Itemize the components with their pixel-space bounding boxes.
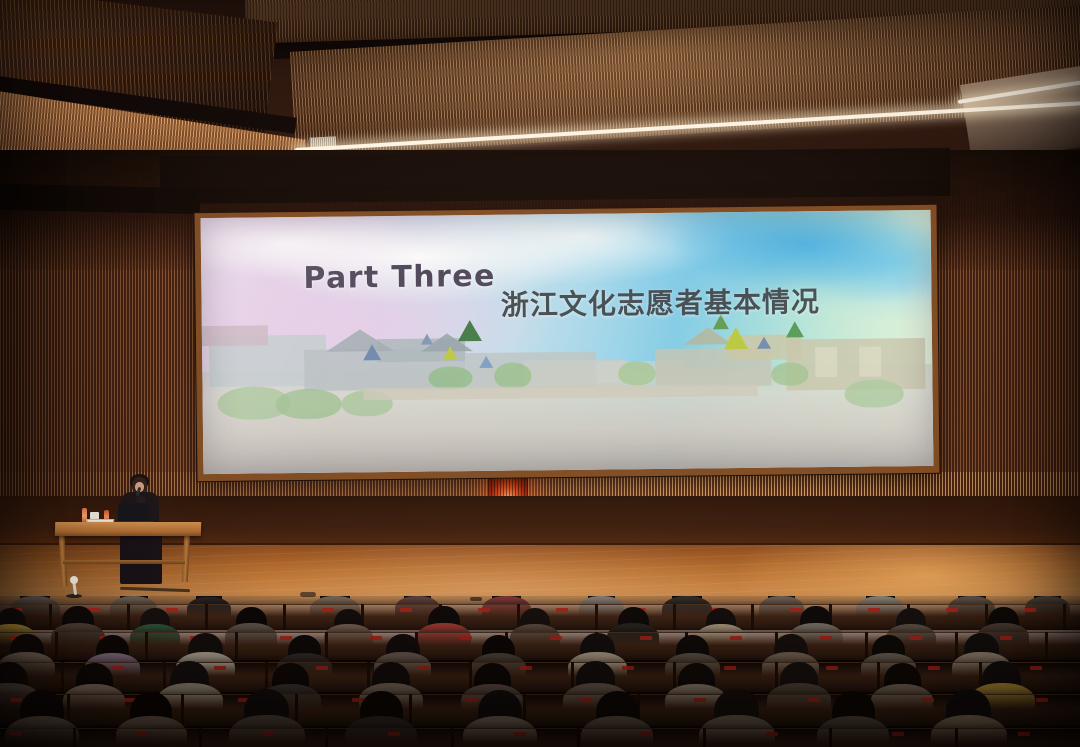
seat-number-marker: [466, 698, 478, 702]
seat-number-marker: [214, 666, 226, 670]
slide-building-right-window-strip-2: [859, 346, 881, 377]
seat-number-marker: [724, 666, 736, 670]
seat-number-marker: [166, 608, 178, 612]
seat-divider: [325, 728, 328, 747]
mic-stand-head: [70, 576, 78, 584]
slide-roof-1: [326, 329, 394, 352]
slide-tree-4: [772, 362, 809, 385]
seat-divider: [955, 728, 958, 747]
seat-number-marker: [136, 732, 148, 736]
slide-shrub-2: [276, 388, 342, 419]
seat-divider: [283, 604, 286, 630]
slide-triangle-2: [421, 333, 433, 344]
seat-number-marker: [418, 666, 430, 670]
seat-number-marker: [580, 698, 592, 702]
seat-number-marker: [910, 636, 922, 640]
slide-title: Part Three: [303, 258, 496, 295]
floor-microphone-stand: [66, 576, 82, 598]
seat-divider: [61, 662, 64, 692]
seat-number-marker: [316, 666, 328, 670]
presenter-table: [55, 522, 201, 536]
slide-shrub-4: [845, 379, 904, 408]
seat-divider: [595, 604, 598, 630]
seat-divider: [127, 604, 130, 630]
seat-number-marker: [478, 608, 490, 612]
slide-triangle-5: [480, 356, 494, 368]
seat-number-marker: [1030, 666, 1042, 670]
seat-divider: [55, 632, 58, 660]
seat-divider: [325, 632, 328, 660]
seat-divider: [409, 694, 412, 726]
seat-number-marker: [10, 698, 22, 702]
table-stretcher-bar: [63, 560, 185, 564]
seat-divider: [751, 604, 754, 630]
seat-number-marker: [112, 666, 124, 670]
slide-subtitle: 浙江文化志愿者基本情况: [501, 280, 820, 324]
slide-building-right-window-strip: [815, 347, 837, 378]
seat-divider: [1063, 604, 1066, 630]
seat-divider: [673, 604, 676, 630]
seat-divider: [73, 728, 76, 747]
seat-divider: [577, 728, 580, 747]
seat-number-marker: [820, 636, 832, 640]
seat-number-marker: [1024, 608, 1036, 612]
seat-divider: [703, 728, 706, 747]
seat-number-marker: [1000, 636, 1012, 640]
slide-triangle-1: [363, 344, 381, 360]
seat-number-marker: [640, 732, 652, 736]
seat-number-marker: [826, 666, 838, 670]
seat-number-marker: [10, 732, 22, 736]
seat-number-marker: [622, 666, 634, 670]
seat-number-marker: [556, 608, 568, 612]
slide-building-left-roof: [202, 325, 268, 346]
seat-divider: [235, 632, 238, 660]
seat-divider: [451, 728, 454, 747]
slide-triangle-7: [724, 327, 748, 349]
seat-number-marker: [280, 636, 292, 640]
seat-number-marker: [370, 636, 382, 640]
seat-number-marker: [868, 608, 880, 612]
seat-divider: [49, 604, 52, 630]
seat-divider: [865, 632, 868, 660]
seat-number-marker: [1036, 698, 1048, 702]
audience-seating: [0, 596, 1080, 747]
seat-number-marker: [730, 636, 742, 640]
seat-number-marker: [892, 732, 904, 736]
seat-divider: [145, 632, 148, 660]
auditorium-scene: Part Three 浙江文化志愿者基本情况: [0, 0, 1080, 747]
seat-number-marker: [946, 608, 958, 612]
seat-number-marker: [520, 666, 532, 670]
seat-number-marker: [460, 636, 472, 640]
projection-screen[interactable]: Part Three 浙江文化志愿者基本情况: [201, 210, 934, 474]
seat-number-marker: [928, 666, 940, 670]
seat-divider: [955, 632, 958, 660]
seat-number-marker: [262, 732, 274, 736]
seat-number-marker: [388, 732, 400, 736]
seat-divider: [829, 728, 832, 747]
slide-triangle-3: [457, 320, 481, 341]
seat-number-marker: [640, 636, 652, 640]
seat-number-marker: [322, 608, 334, 612]
presenter-lower-body: [120, 532, 162, 584]
seat-number-marker: [550, 636, 562, 640]
slide-triangle-8: [757, 337, 771, 349]
seat-number-marker: [514, 732, 526, 736]
slide-triangle-4: [443, 346, 457, 359]
seat-divider: [205, 604, 208, 630]
seat-number-marker: [766, 732, 778, 736]
seat-number-marker: [922, 698, 934, 702]
seat-number-marker: [808, 698, 820, 702]
seat-row[interactable]: [0, 728, 1080, 747]
projection-screen-frame: Part Three 浙江文化志愿者基本情况: [195, 205, 940, 481]
slide-triangle-9: [786, 321, 804, 337]
seat-number-marker: [694, 698, 706, 702]
seat-number-marker: [1018, 732, 1030, 736]
seat-divider: [1045, 632, 1048, 660]
seat-number-marker: [400, 608, 412, 612]
seat-divider: [199, 728, 202, 747]
seat-number-marker: [790, 608, 802, 612]
slide-tree-3: [618, 361, 655, 384]
seat-divider: [181, 694, 184, 726]
